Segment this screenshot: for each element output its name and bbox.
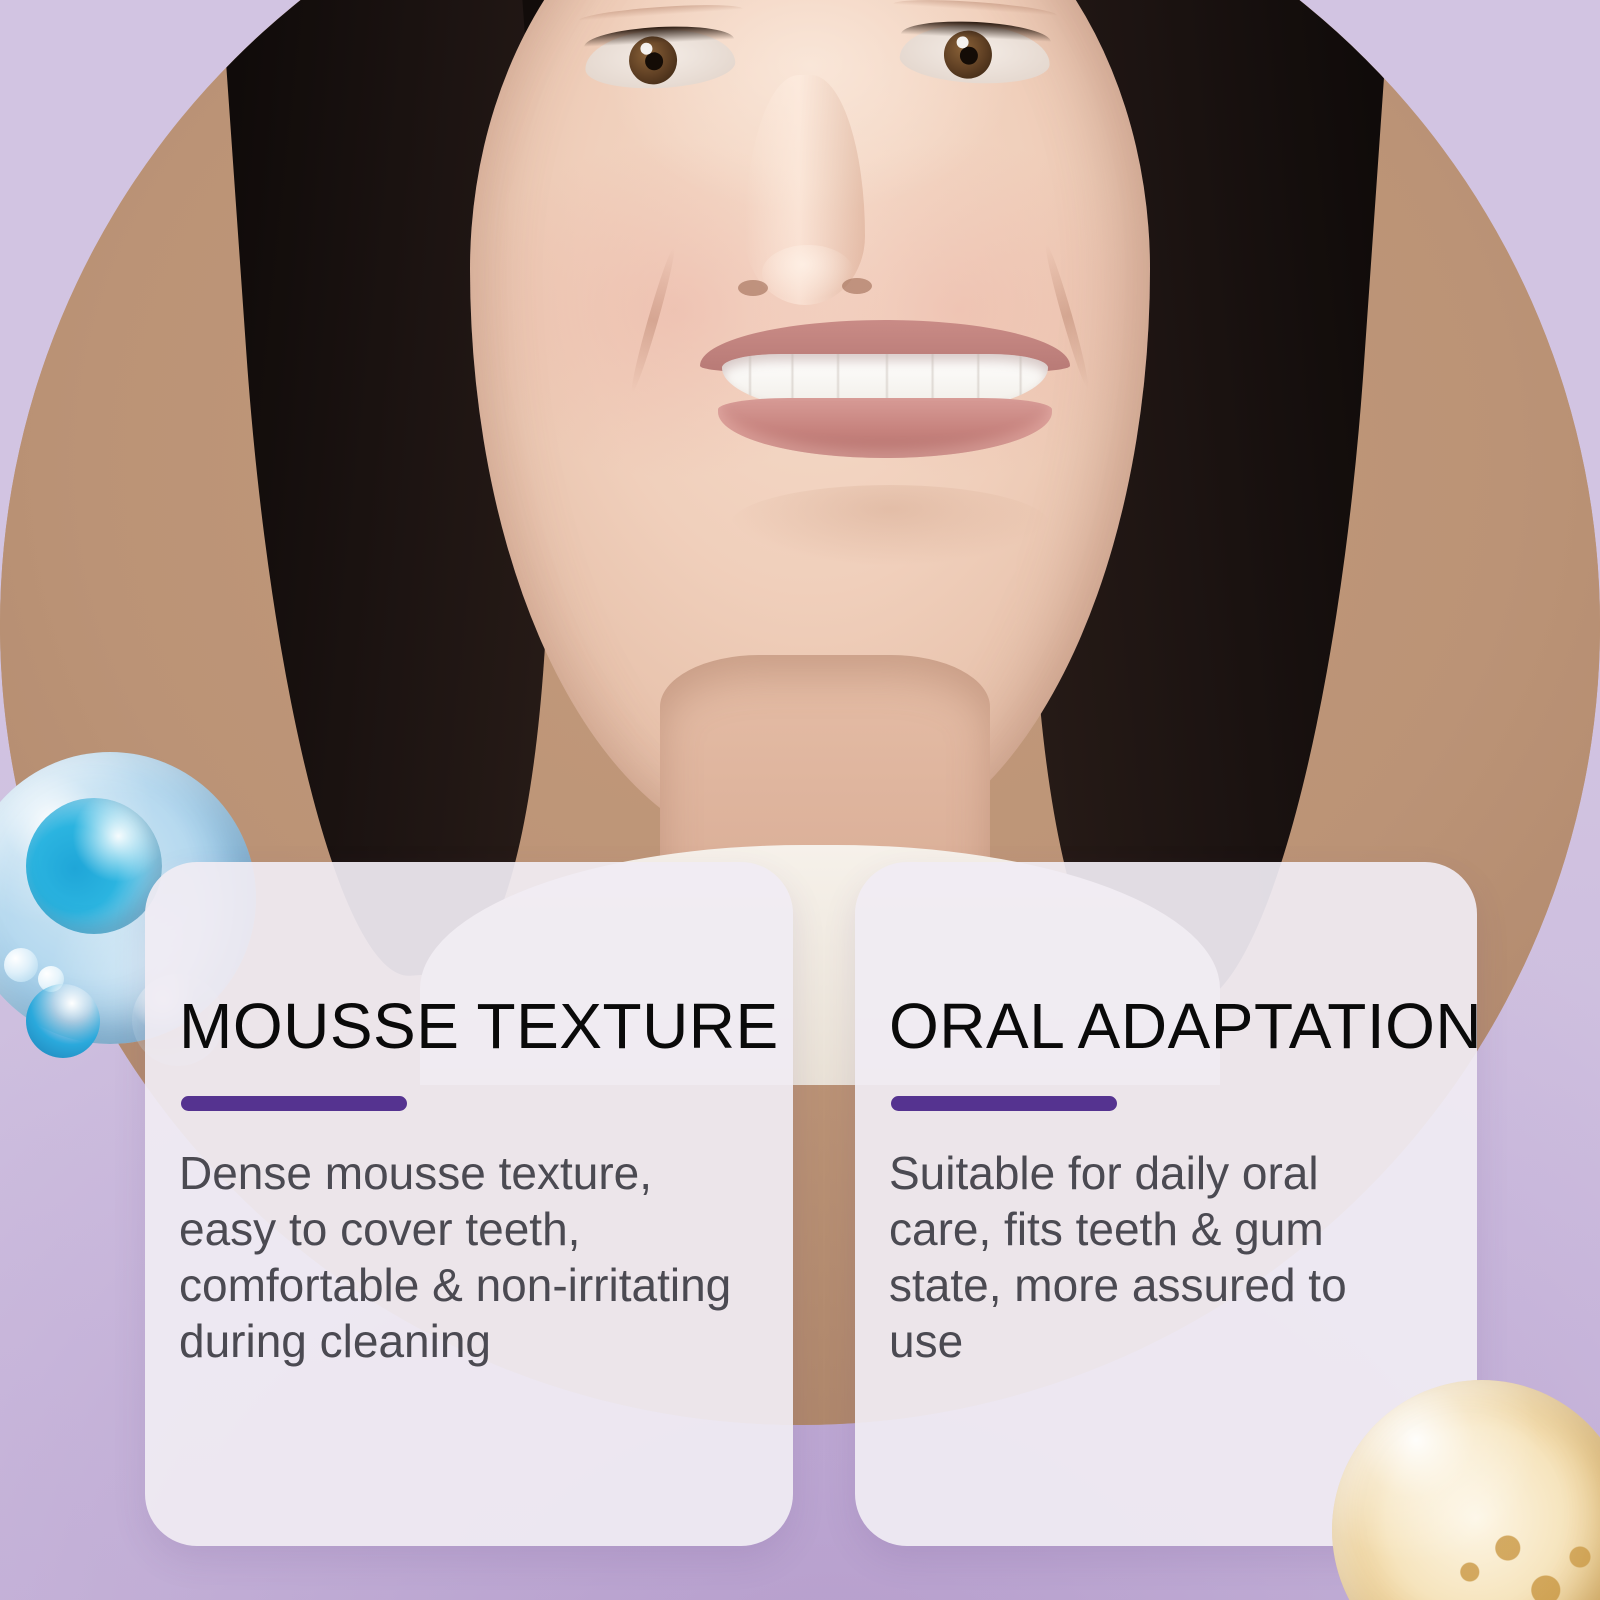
feature-cards: MOUSSE TEXTURE Dense mousse texture, eas…	[0, 0, 1600, 1600]
infographic-stage: MOUSSE TEXTURE Dense mousse texture, eas…	[0, 0, 1600, 1600]
feature-card-mousse-texture: MOUSSE TEXTURE Dense mousse texture, eas…	[145, 862, 793, 1546]
accent-rule	[891, 1096, 1117, 1111]
accent-rule	[181, 1096, 407, 1111]
gold-sphere-bubbles	[1428, 1512, 1600, 1600]
card-body-text: Suitable for daily oral care, fits teeth…	[889, 1145, 1431, 1369]
card-title: MOUSSE TEXTURE	[179, 994, 747, 1058]
card-body-text: Dense mousse texture, easy to cover teet…	[179, 1145, 747, 1369]
card-title: ORAL ADAPTATION	[889, 994, 1431, 1058]
